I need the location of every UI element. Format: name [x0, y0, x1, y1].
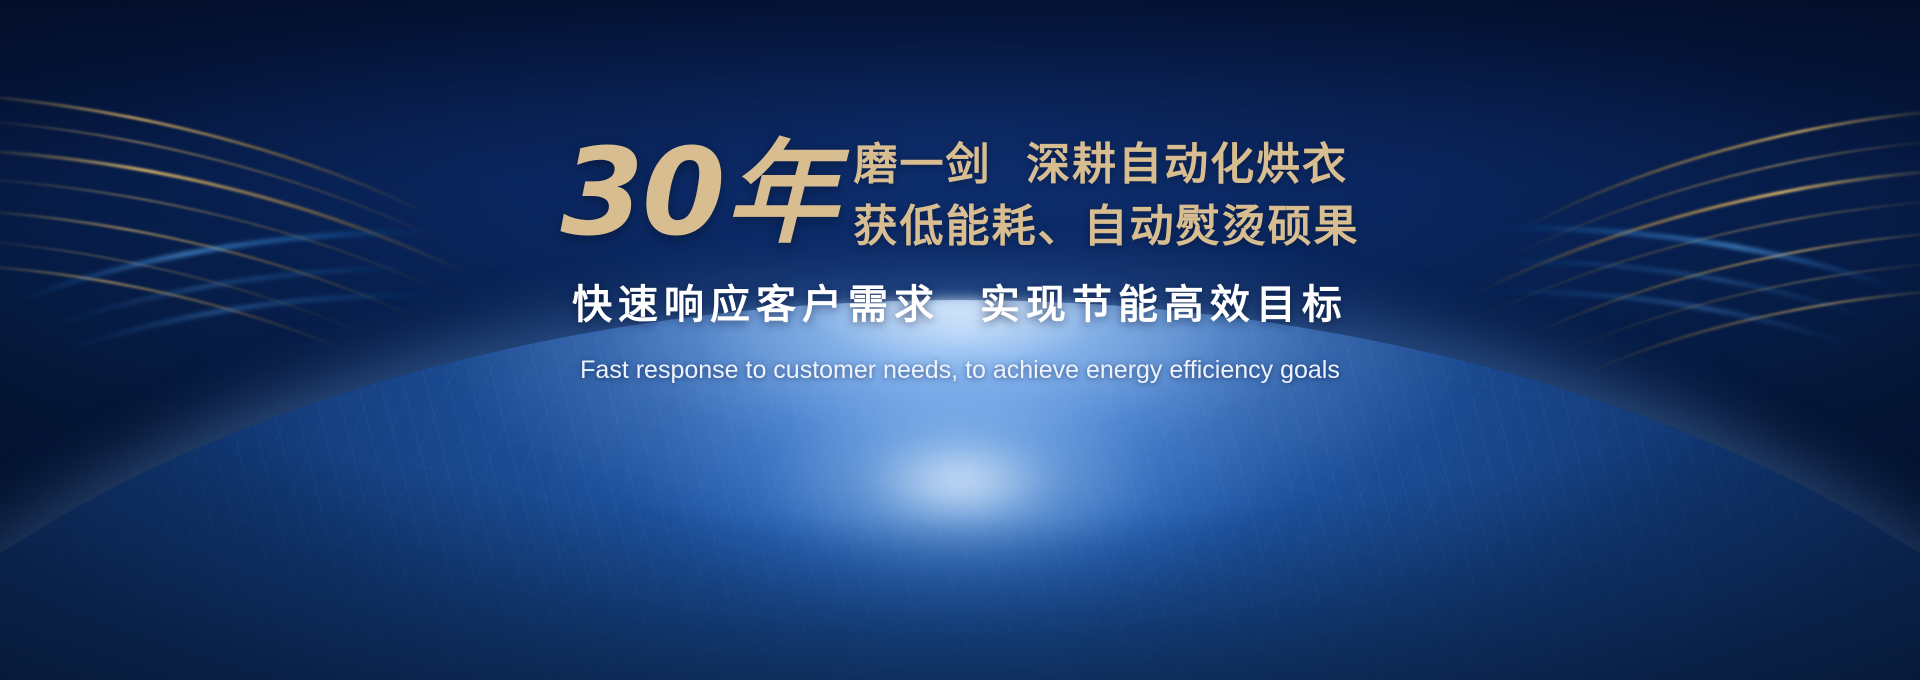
- gold-headline-lines: 磨一剑 深耕自动化烘衣 获低能耗、自动熨烫硕果: [854, 138, 1360, 253]
- headline-row: 30 年 磨一剑 深耕自动化烘衣 获低能耗、自动熨烫硕果: [0, 128, 1920, 254]
- gold-headline-line-1: 磨一剑 深耕自动化烘衣: [854, 138, 1360, 192]
- banner-content: 30 年 磨一剑 深耕自动化烘衣 获低能耗、自动熨烫硕果 快速响应客户需求 实现…: [0, 128, 1920, 385]
- gold-headline-line-2: 获低能耗、自动熨烫硕果: [854, 200, 1360, 254]
- subheadline-chinese: 快速响应客户需求 实现节能高效目标: [0, 272, 1920, 330]
- promo-banner: 30 年 磨一剑 深耕自动化烘衣 获低能耗、自动熨烫硕果 快速响应客户需求 实现…: [0, 0, 1920, 680]
- anniversary-unit-character: 年: [726, 138, 838, 250]
- subheadline-english: Fast response to customer needs, to achi…: [0, 356, 1920, 385]
- anniversary-number: 30: [561, 134, 724, 254]
